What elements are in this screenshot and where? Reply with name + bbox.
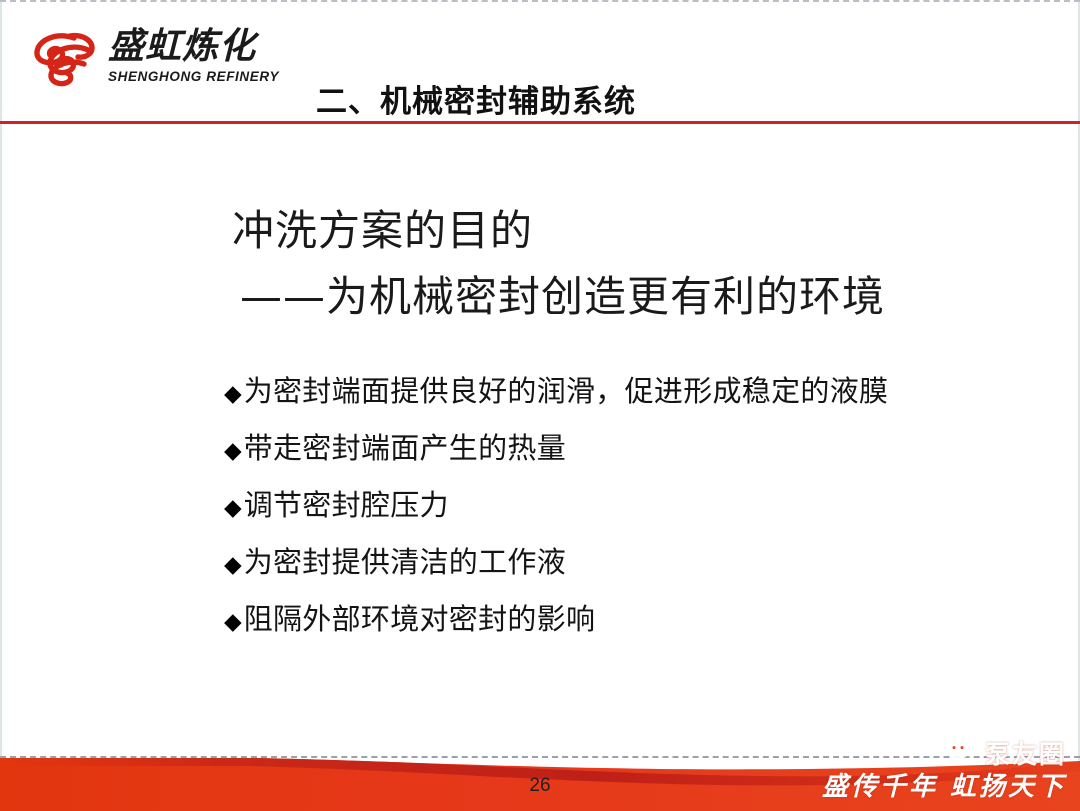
slide-header: 盛虹炼化 SHENGHONG REFINERY 二、机械密封辅助系统	[0, 0, 1080, 124]
list-item: ◆ 为密封提供清洁的工作液	[224, 545, 1054, 582]
diamond-bullet-icon: ◆	[224, 491, 242, 525]
diamond-bullet-icon: ◆	[224, 548, 242, 582]
heading-subtitle: ——为机械密封创造更有利的环境	[232, 270, 1052, 324]
watermark-slogan: 盛传千年 虹扬天下	[822, 766, 1066, 803]
list-item-label: 带走密封端面产生的热量	[244, 431, 566, 465]
slide-footer: 26 泵友圈 盛传千年 虹扬天下	[0, 721, 1080, 811]
diamond-bullet-icon: ◆	[224, 434, 242, 468]
list-item: ◆ 带走密封端面产生的热量	[224, 431, 1054, 468]
wechat-icon	[945, 738, 979, 768]
heading-primary: 冲洗方案的目的	[232, 204, 1052, 258]
list-item-label: 阻隔外部环境对密封的影响	[244, 602, 596, 636]
shenghong-swirl-logo-icon	[28, 28, 100, 90]
list-item-label: 调节密封腔压力	[244, 488, 449, 522]
slide-body: 冲洗方案的目的 ——为机械密封创造更有利的环境 ◆ 为密封端面提供良好的润滑，促…	[0, 124, 1080, 744]
list-item: ◆ 调节密封腔压力	[224, 488, 1054, 525]
diamond-bullet-icon: ◆	[224, 377, 242, 411]
watermark: 泵友圈 盛传千年 虹扬天下	[872, 735, 1072, 805]
slide: 盛虹炼化 SHENGHONG REFINERY 二、机械密封辅助系统 冲洗方案的…	[0, 0, 1080, 811]
list-item-label: 为密封提供清洁的工作液	[244, 545, 566, 579]
list-item: ◆ 为密封端面提供良好的润滑，促进形成稳定的液膜	[224, 374, 1054, 411]
page-title: 二、机械密封辅助系统	[316, 76, 636, 121]
list-item-label: 为密封端面提供良好的润滑，促进形成稳定的液膜	[244, 374, 889, 408]
company-logo: 盛虹炼化 SHENGHONG REFINERY	[28, 26, 290, 94]
logo-wordmark: 盛虹炼化 SHENGHONG REFINERY	[108, 26, 292, 85]
logo-name-en: SHENGHONG REFINERY	[108, 69, 292, 85]
diamond-bullet-icon: ◆	[224, 605, 242, 639]
content-heading: 冲洗方案的目的 ——为机械密封创造更有利的环境	[232, 204, 1052, 324]
list-item: ◆ 阻隔外部环境对密封的影响	[224, 602, 1054, 639]
logo-name-cn: 盛虹炼化	[108, 26, 292, 68]
bullet-list: ◆ 为密封端面提供良好的润滑，促进形成稳定的液膜 ◆ 带走密封端面产生的热量 ◆…	[224, 374, 1054, 659]
